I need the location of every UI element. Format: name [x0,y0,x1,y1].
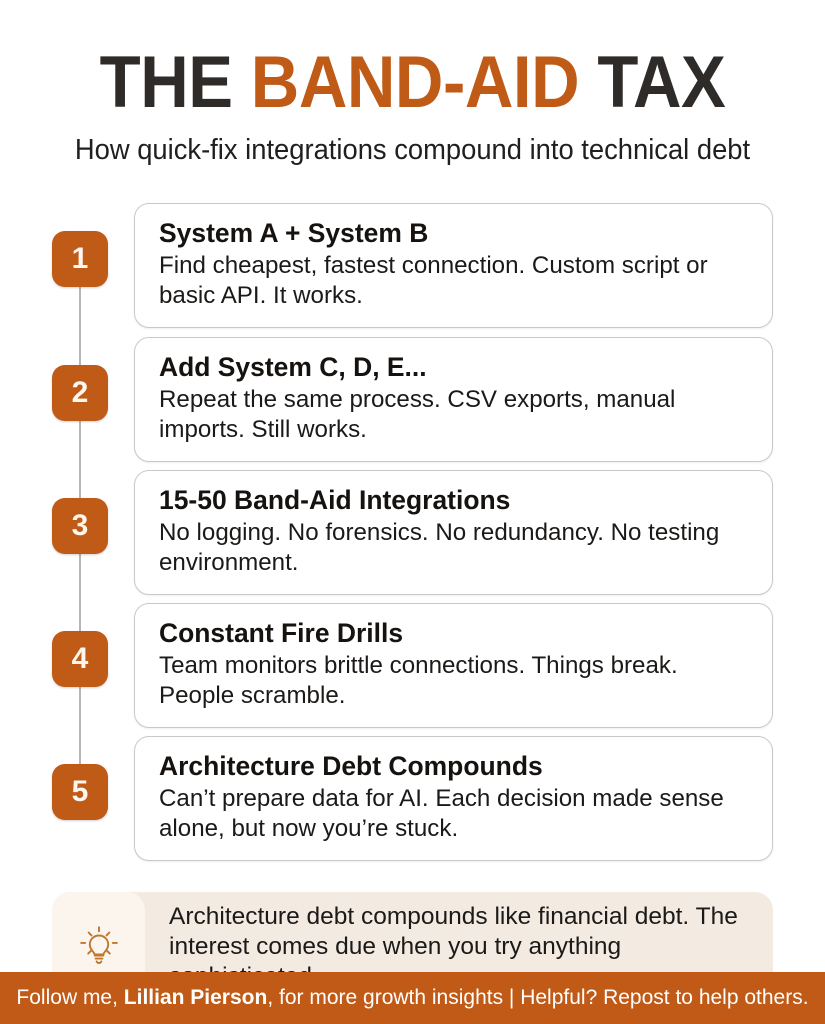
footer-bar: Follow me, Lillian Pierson, for more gro… [0,972,825,1024]
step-card: System A + System B Find cheapest, faste… [134,203,773,328]
lightbulb-icon [73,921,125,973]
badge-slot: 1 [52,203,108,287]
step-title: Add System C, D, E... [159,352,740,383]
page-subtitle: How quick-fix integrations compound into… [17,133,809,167]
step-item: 5 Architecture Debt Compounds Can’t prep… [52,736,773,861]
header: THE BAND-AID TAX How quick-fix integrati… [0,0,825,167]
step-title: System A + System B [159,218,740,249]
step-title: Architecture Debt Compounds [159,751,740,782]
step-item: 1 System A + System B Find cheapest, fas… [52,203,773,328]
step-item: 3 15-50 Band-Aid Integrations No logging… [52,470,773,595]
step-body: Can’t prepare data for AI. Each decision… [159,784,743,844]
footer-text: Follow me, Lillian Pierson, for more gro… [16,986,808,1010]
title-part-2: TAX [579,42,725,123]
step-number-badge: 2 [52,365,108,421]
step-card: Add System C, D, E... Repeat the same pr… [134,337,773,462]
step-card: 15-50 Band-Aid Integrations No logging. … [134,470,773,595]
step-body: Team monitors brittle connections. Thing… [159,651,743,711]
step-number-badge: 5 [52,764,108,820]
footer-prefix: Follow me, [16,986,123,1009]
step-number-badge: 4 [52,631,108,687]
step-number-badge: 1 [52,231,108,287]
title-part-1: THE [100,42,251,123]
badge-slot: 5 [52,736,108,820]
page-title: THE BAND-AID TAX [33,44,792,122]
footer-suffix: , for more growth insights | Helpful? Re… [267,986,808,1009]
badge-slot: 3 [52,470,108,554]
step-body: No logging. No forensics. No redundancy.… [159,518,743,578]
step-body: Repeat the same process. CSV exports, ma… [159,385,743,445]
step-item: 2 Add System C, D, E... Repeat the same … [52,337,773,462]
badge-slot: 2 [52,337,108,421]
steps-list: 1 System A + System B Find cheapest, fas… [0,203,825,869]
title-accent: BAND-AID [251,42,579,123]
infographic-page: THE BAND-AID TAX How quick-fix integrati… [0,0,825,1024]
step-number-badge: 3 [52,498,108,554]
footer-author-name: Lillian Pierson [124,986,268,1009]
step-item: 4 Constant Fire Drills Team monitors bri… [52,603,773,728]
step-title: 15-50 Band-Aid Integrations [159,485,740,516]
badge-slot: 4 [52,603,108,687]
step-title: Constant Fire Drills [159,618,740,649]
step-card: Constant Fire Drills Team monitors britt… [134,603,773,728]
step-body: Find cheapest, fastest connection. Custo… [159,251,743,311]
step-card: Architecture Debt Compounds Can’t prepar… [134,736,773,861]
